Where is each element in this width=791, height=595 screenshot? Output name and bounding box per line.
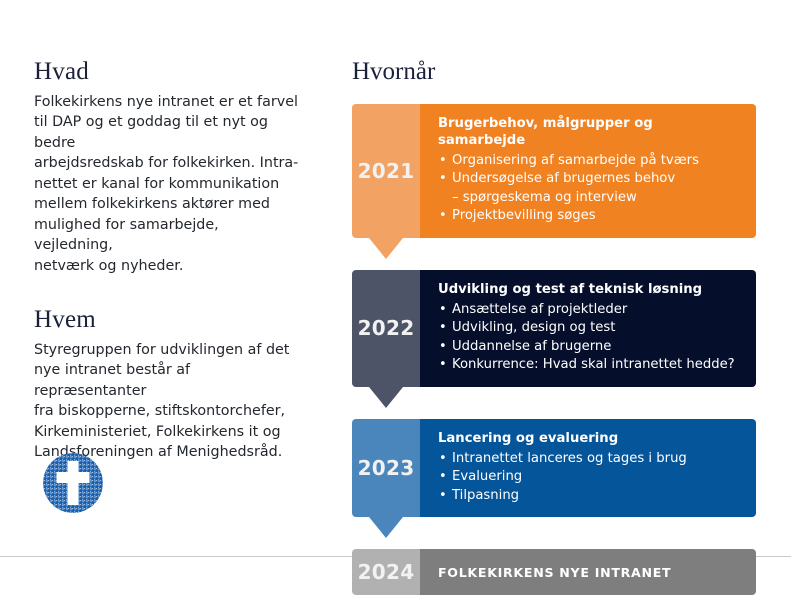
- list-item: Tilpasning: [438, 487, 742, 506]
- timeline-content-2023: Lancering og evaluering Intranettet lanc…: [420, 419, 756, 518]
- timeline-heading: Hvornår: [352, 58, 756, 86]
- list-item: Udvikling, design og test: [438, 319, 742, 338]
- timeline-content-2024: FOLKEKIRKENS NYE INTRANET: [420, 549, 756, 595]
- list-item: Evaluering: [438, 468, 742, 487]
- timeline-final-label: FOLKEKIRKENS NYE INTRANET: [438, 565, 671, 580]
- timeline-title: Udvikling og test af teknisk løsning: [438, 281, 742, 298]
- timeline-year-2021: 2021: [352, 104, 420, 238]
- timeline-title: Brugerbehov, målgrupper og samarbejde: [438, 115, 742, 149]
- timeline-bullet-list: Ansættelse af projektleder Udvikling, de…: [438, 301, 742, 375]
- list-item: Intranettet lanceres og tages i brug: [438, 450, 742, 469]
- timeline-content-2021: Brugerbehov, målgrupper og samarbejde Or…: [420, 104, 756, 238]
- section-hvad-heading: Hvad: [34, 58, 302, 86]
- list-item: Organisering af samarbejde på tværs: [438, 152, 742, 171]
- timeline-title: Lancering og evaluering: [438, 430, 742, 447]
- timeline-year-label: 2021: [358, 159, 415, 183]
- list-item: Undersøgelse af brugernes behov – spørge…: [438, 170, 742, 207]
- timeline-row-2023: 2023 Lancering og evaluering Intranettet…: [352, 419, 756, 518]
- list-item: Uddannelse af brugerne: [438, 338, 742, 357]
- timeline-row-2021: 2021 Brugerbehov, målgrupper og samarbej…: [352, 104, 756, 238]
- timeline-year-label: 2024: [358, 560, 415, 584]
- section-hvem-body: Styregruppen for udviklingen af det nye …: [34, 340, 302, 463]
- timeline-year-label: 2022: [358, 316, 415, 340]
- timeline-bullet-list: Intranettet lanceres og tages i brug Eva…: [438, 450, 742, 506]
- timeline-column: Hvornår 2021 Brugerbehov, målgrupper og …: [352, 58, 756, 595]
- timeline-year-2023: 2023: [352, 419, 420, 518]
- timeline-row-2024: 2024 FOLKEKIRKENS NYE INTRANET: [352, 549, 756, 595]
- timeline-year-2022: 2022: [352, 270, 420, 387]
- timeline-arrow-icon: [369, 238, 403, 259]
- section-hvem-heading: Hvem: [34, 306, 302, 334]
- section-hvem: Hvem Styregruppen for udviklingen af det…: [34, 306, 302, 463]
- timeline-content-2022: Udvikling og test af teknisk løsning Ans…: [420, 270, 756, 387]
- timeline-row-2022: 2022 Udvikling og test af teknisk løsnin…: [352, 270, 756, 387]
- timeline-arrow-icon: [369, 387, 403, 408]
- left-info-column: Hvad Folkekirkens nye intranet er et far…: [34, 58, 302, 463]
- timeline-bullet-list: Organisering af samarbejde på tværs Unde…: [438, 152, 742, 226]
- timeline-year-label: 2023: [358, 456, 415, 480]
- timeline-year-2024: 2024: [352, 549, 420, 595]
- folkekirken-cross-logo: [42, 452, 104, 514]
- list-item: Projektbevilling søges: [438, 207, 742, 226]
- cross-logo-icon: [42, 452, 104, 514]
- section-hvad: Hvad Folkekirkens nye intranet er et far…: [34, 58, 302, 276]
- section-hvad-body: Folkekirkens nye intranet er et farvel t…: [34, 92, 302, 277]
- list-item: Konkurrence: Hvad skal intranettet hedde…: [438, 356, 742, 375]
- list-item: Ansættelse af projektleder: [438, 301, 742, 320]
- timeline-arrow-icon: [369, 517, 403, 538]
